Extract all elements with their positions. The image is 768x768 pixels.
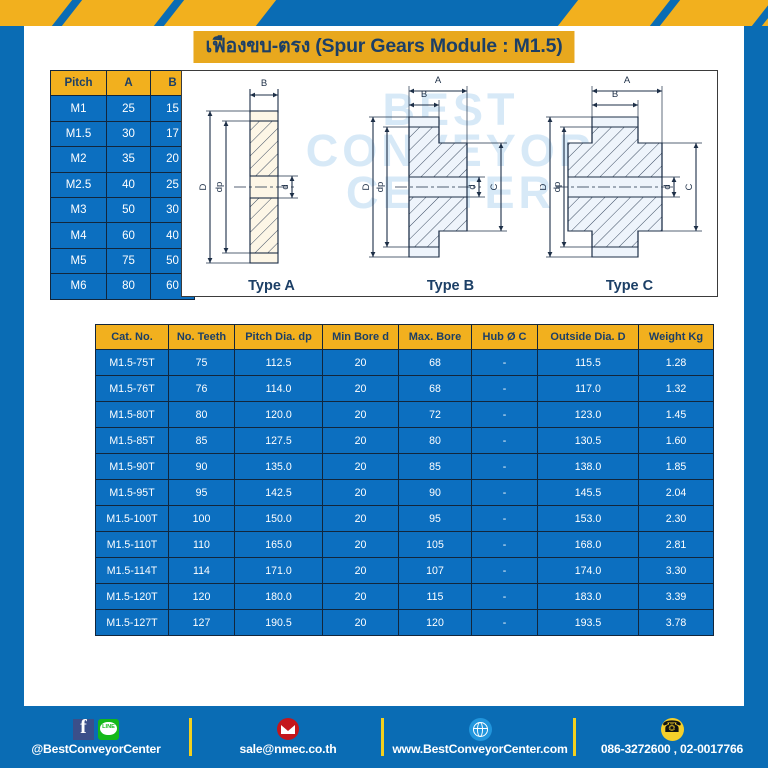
- data-table-header-cell: Hub Ø C: [472, 325, 538, 350]
- footer-columns: @BestConveyorCenter sale@nmec.co.th www.…: [0, 706, 768, 768]
- data-table-cell: M1.5-75T: [96, 350, 169, 376]
- data-table-cell: M1.5-127T: [96, 610, 169, 636]
- data-table-cell: 20: [323, 376, 399, 402]
- table-row: M1.5-120T120180.020115-183.03.39: [96, 584, 714, 610]
- email-icon[interactable]: [277, 718, 299, 740]
- data-table-cell: -: [472, 350, 538, 376]
- pitch-table-header-row: Pitch A B: [51, 71, 195, 96]
- data-table-header-cell: Min Bore d: [323, 325, 399, 350]
- data-table-cell: 135.0: [235, 454, 323, 480]
- table-row: M1.5-100T100150.02095-153.02.30: [96, 506, 714, 532]
- svg-text:D: D: [198, 183, 209, 190]
- data-table-cell: 20: [323, 350, 399, 376]
- table-row: M1.5-127T127190.520120-193.53.78: [96, 610, 714, 636]
- svg-text:D: D: [361, 183, 372, 190]
- data-table-cell: 1.32: [639, 376, 714, 402]
- data-table-cell: 114.0: [235, 376, 323, 402]
- svg-text:d: d: [280, 184, 291, 189]
- data-table-cell: 20: [323, 428, 399, 454]
- data-table-cell: -: [472, 610, 538, 636]
- data-table-cell: 183.0: [538, 584, 639, 610]
- footer-item-phone[interactable]: 086-3272600 , 02-0017766: [576, 706, 768, 768]
- pitch-table-cell: 75: [107, 248, 151, 273]
- pitch-table-cell: 35: [107, 147, 151, 172]
- data-table-cell: 20: [323, 454, 399, 480]
- data-table-cell: 68: [399, 350, 472, 376]
- type-a-drawing: B D dp d: [182, 71, 361, 297]
- footer-item-email[interactable]: sale@nmec.co.th: [192, 706, 384, 768]
- data-table-cell: M1.5-110T: [96, 532, 169, 558]
- data-table-header-cell: Max. Bore: [399, 325, 472, 350]
- data-table-cell: 1.45: [639, 402, 714, 428]
- data-table-cell: 20: [323, 506, 399, 532]
- data-table-cell: 2.04: [639, 480, 714, 506]
- top-banner: [0, 0, 768, 26]
- type-c-drawing: A B D dp d C: [540, 71, 718, 297]
- pitch-table-row: M68060: [51, 274, 195, 299]
- data-table-header-cell: No. Teeth: [169, 325, 235, 350]
- data-table-cell: 85: [169, 428, 235, 454]
- data-table-cell: 20: [323, 610, 399, 636]
- pitch-table-row: M46040: [51, 223, 195, 248]
- data-table-cell: 123.0: [538, 402, 639, 428]
- figure-label: Type B: [361, 278, 540, 294]
- data-table-cell: 138.0: [538, 454, 639, 480]
- pitch-table-cell: M3: [51, 197, 107, 222]
- spur-gear-data-table: Cat. No.No. TeethPitch Dia. dpMin Bore d…: [95, 324, 714, 636]
- pitch-table-row: M1.53017: [51, 121, 195, 146]
- svg-text:B: B: [421, 89, 427, 100]
- phone-icon[interactable]: [661, 718, 684, 741]
- data-table-cell: 168.0: [538, 532, 639, 558]
- data-table-cell: 80: [169, 402, 235, 428]
- pitch-table-row: M23520: [51, 147, 195, 172]
- data-table-cell: 2.81: [639, 532, 714, 558]
- pitch-table-row: M12515: [51, 96, 195, 121]
- pitch-table-cell: 30: [107, 121, 151, 146]
- data-table-cell: -: [472, 584, 538, 610]
- pitch-table-row: M57550: [51, 248, 195, 273]
- pitch-table-cell: 25: [107, 96, 151, 121]
- svg-text:dp: dp: [214, 182, 225, 193]
- data-table-cell: 112.5: [235, 350, 323, 376]
- data-table-cell: M1.5-95T: [96, 480, 169, 506]
- table-row: M1.5-95T95142.52090-145.52.04: [96, 480, 714, 506]
- pitch-table-cell: 60: [107, 223, 151, 248]
- data-table-cell: 153.0: [538, 506, 639, 532]
- svg-text:B: B: [261, 78, 267, 89]
- figure-type-a: B D dp d Type A: [182, 71, 361, 297]
- figure-type-b: A B D dp d C Type B: [361, 71, 540, 297]
- data-table-cell: 120.0: [235, 402, 323, 428]
- data-table-cell: -: [472, 506, 538, 532]
- data-table-cell: 95: [169, 480, 235, 506]
- page-title: เฟืองขบ-ตรง (Spur Gears Module : M1.5): [193, 31, 574, 63]
- data-table-cell: 115: [399, 584, 472, 610]
- data-table-cell: 68: [399, 376, 472, 402]
- data-table-header-cell: Outside Dia. D: [538, 325, 639, 350]
- pitch-table-cell: M1: [51, 96, 107, 121]
- title-area: เฟืองขบ-ตรง (Spur Gears Module : M1.5): [24, 26, 744, 74]
- data-table-cell: 145.5: [538, 480, 639, 506]
- footer-label: 086-3272600 , 02-0017766: [601, 742, 743, 756]
- data-table-cell: 110: [169, 532, 235, 558]
- footer-icons: [73, 718, 119, 740]
- data-table-cell: 72: [399, 402, 472, 428]
- svg-text:A: A: [435, 75, 442, 86]
- line-icon[interactable]: [98, 719, 119, 740]
- data-table-cell: 20: [323, 480, 399, 506]
- banner-chevron: [555, 0, 674, 26]
- pitch-table-row: M2.54025: [51, 172, 195, 197]
- data-table-cell: -: [472, 376, 538, 402]
- banner-chevron: [657, 0, 768, 26]
- pitch-table-cell: M2.5: [51, 172, 107, 197]
- figure-type-c: A B D dp d C Type C: [540, 71, 718, 297]
- footer-item-website[interactable]: www.BestConveyorCenter.com: [384, 706, 576, 768]
- data-table-cell: 127: [169, 610, 235, 636]
- data-table-cell: 120: [169, 584, 235, 610]
- data-table-cell: -: [472, 558, 538, 584]
- pitch-table-row: M35030: [51, 197, 195, 222]
- svg-text:d: d: [467, 184, 478, 189]
- data-table-cell: 165.0: [235, 532, 323, 558]
- banner-chevron: [161, 0, 280, 26]
- table-row: M1.5-80T80120.02072-123.01.45: [96, 402, 714, 428]
- data-table-cell: 127.5: [235, 428, 323, 454]
- data-table-cell: 120: [399, 610, 472, 636]
- pitch-table-cell: M2: [51, 147, 107, 172]
- table-row: M1.5-114T114171.020107-174.03.30: [96, 558, 714, 584]
- data-table-cell: 2.30: [639, 506, 714, 532]
- data-table-cell: 80: [399, 428, 472, 454]
- data-table-cell: 20: [323, 402, 399, 428]
- svg-text:d: d: [662, 184, 673, 189]
- data-table-cell: 20: [323, 532, 399, 558]
- svg-text:A: A: [624, 75, 631, 86]
- pitch-table-cell: M5: [51, 248, 107, 273]
- pitch-table-cell: M4: [51, 223, 107, 248]
- footer-label: sale@nmec.co.th: [240, 742, 337, 756]
- footer-label: @BestConveyorCenter: [31, 742, 160, 756]
- data-table-cell: M1.5-120T: [96, 584, 169, 610]
- data-table-cell: M1.5-85T: [96, 428, 169, 454]
- data-table-cell: 190.5: [235, 610, 323, 636]
- pitch-table: Pitch A B M12515M1.53017M23520M2.54025M3…: [50, 70, 195, 300]
- data-table-cell: 20: [323, 558, 399, 584]
- data-table-cell: M1.5-76T: [96, 376, 169, 402]
- footer-icons: [277, 718, 299, 740]
- pitch-table-cell: M1.5: [51, 121, 107, 146]
- data-table-cell: 171.0: [235, 558, 323, 584]
- svg-text:dp: dp: [552, 182, 563, 193]
- data-table-cell: 3.30: [639, 558, 714, 584]
- data-table-cell: M1.5-100T: [96, 506, 169, 532]
- data-table-cell: 193.5: [538, 610, 639, 636]
- data-table-header-cell: Weight Kg: [639, 325, 714, 350]
- gear-diagram-panel: BEST CONVEYOR CENTER: [181, 70, 718, 297]
- content-sheet: เฟืองขบ-ตรง (Spur Gears Module : M1.5) P…: [24, 26, 744, 706]
- data-table-cell: 1.28: [639, 350, 714, 376]
- data-table-cell: 20: [323, 584, 399, 610]
- figure-label: Type A: [182, 278, 361, 294]
- data-table-cell: 1.85: [639, 454, 714, 480]
- data-table-cell: 105: [399, 532, 472, 558]
- data-table-cell: 117.0: [538, 376, 639, 402]
- data-table-cell: 3.39: [639, 584, 714, 610]
- table-row: M1.5-85T85127.52080-130.51.60: [96, 428, 714, 454]
- type-b-drawing: A B D dp d C: [361, 71, 540, 297]
- footer-icons: [661, 718, 684, 740]
- pitch-table-cell: M6: [51, 274, 107, 299]
- globe-icon[interactable]: [469, 718, 492, 741]
- data-table-header-row: Cat. No.No. TeethPitch Dia. dpMin Bore d…: [96, 325, 714, 350]
- data-table-cell: 115.5: [538, 350, 639, 376]
- banner-chevron: [59, 0, 178, 26]
- data-table-header-cell: Pitch Dia. dp: [235, 325, 323, 350]
- data-table-cell: 180.0: [235, 584, 323, 610]
- data-table-cell: M1.5-90T: [96, 454, 169, 480]
- data-table-cell: 142.5: [235, 480, 323, 506]
- data-table-cell: 75: [169, 350, 235, 376]
- pitch-table-cell: 40: [107, 172, 151, 197]
- data-table-cell: 114: [169, 558, 235, 584]
- data-table-cell: -: [472, 402, 538, 428]
- data-table-cell: 95: [399, 506, 472, 532]
- data-table-cell: 1.60: [639, 428, 714, 454]
- data-table-cell: 100: [169, 506, 235, 532]
- data-table-cell: 3.78: [639, 610, 714, 636]
- figure-label: Type C: [540, 278, 718, 294]
- svg-text:C: C: [489, 183, 500, 190]
- pitch-table-cell: 50: [107, 197, 151, 222]
- data-table-cell: 90: [399, 480, 472, 506]
- table-row: M1.5-90T90135.02085-138.01.85: [96, 454, 714, 480]
- data-table-header-cell: Cat. No.: [96, 325, 169, 350]
- data-table-cell: M1.5-114T: [96, 558, 169, 584]
- footer-icons: [469, 718, 492, 740]
- page-root: เฟืองขบ-ตรง (Spur Gears Module : M1.5) P…: [0, 0, 768, 768]
- data-table-cell: 130.5: [538, 428, 639, 454]
- footer-bar: @BestConveyorCenter sale@nmec.co.th www.…: [0, 706, 768, 768]
- pitch-header-cell: A: [107, 71, 151, 96]
- footer-label: www.BestConveyorCenter.com: [392, 742, 567, 756]
- footer-item-facebook[interactable]: @BestConveyorCenter: [0, 706, 192, 768]
- svg-text:C: C: [684, 183, 695, 190]
- pitch-header-cell: Pitch: [51, 71, 107, 96]
- data-table-cell: -: [472, 480, 538, 506]
- pitch-table-cell: 80: [107, 274, 151, 299]
- svg-text:B: B: [612, 89, 618, 100]
- data-table-cell: 85: [399, 454, 472, 480]
- facebook-icon[interactable]: [73, 719, 94, 740]
- svg-text:dp: dp: [375, 182, 386, 193]
- table-row: M1.5-76T76114.02068-117.01.32: [96, 376, 714, 402]
- data-table-cell: 107: [399, 558, 472, 584]
- data-table-cell: M1.5-80T: [96, 402, 169, 428]
- data-table-cell: -: [472, 428, 538, 454]
- data-table-cell: 150.0: [235, 506, 323, 532]
- data-table-cell: 174.0: [538, 558, 639, 584]
- data-table-cell: -: [472, 532, 538, 558]
- svg-text:D: D: [540, 183, 549, 190]
- data-table-cell: 90: [169, 454, 235, 480]
- table-row: M1.5-75T75112.52068-115.51.28: [96, 350, 714, 376]
- data-table-cell: 76: [169, 376, 235, 402]
- data-table-cell: -: [472, 454, 538, 480]
- table-row: M1.5-110T110165.020105-168.02.81: [96, 532, 714, 558]
